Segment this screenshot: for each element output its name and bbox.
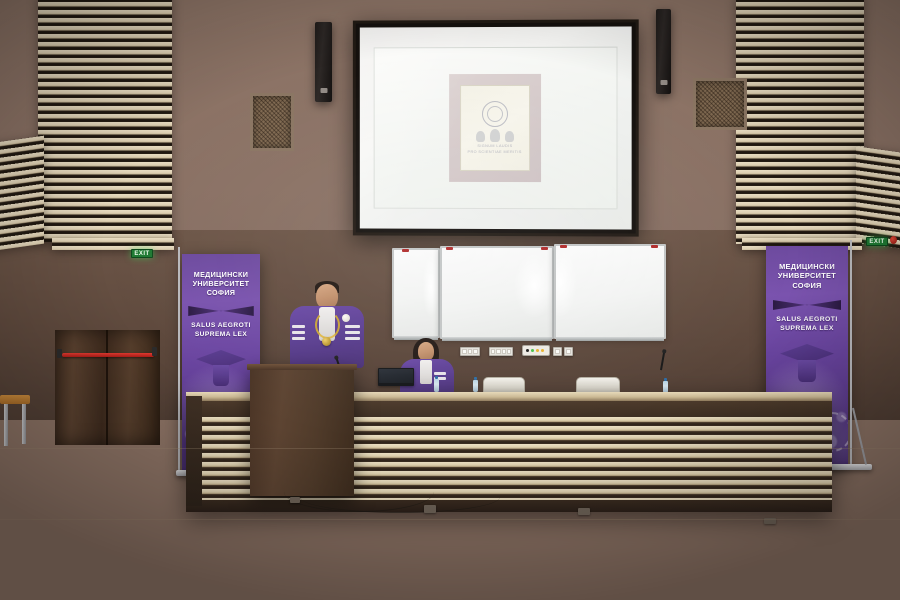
lectern-podium [250, 366, 354, 496]
whiteboard-tray [442, 337, 552, 341]
wall-slat-panel-left-main [38, 0, 172, 242]
desk-left-return [186, 396, 202, 506]
banner-left-divider [188, 306, 254, 316]
laptop-screen [379, 369, 413, 383]
banner-left-line3: СОФИЯ [182, 288, 260, 297]
whiteboard-shine [394, 250, 438, 336]
whiteboard-panel-right [554, 244, 666, 339]
graduation-cap-icon [196, 350, 246, 384]
certificate-seal-icon [482, 101, 508, 127]
banner-right-divider [773, 300, 842, 310]
switch-rocker[interactable] [496, 349, 500, 354]
graduation-cap-icon [780, 344, 834, 380]
power-outlet-plate-2[interactable] [564, 347, 573, 356]
banner-right-org-name: МЕДИЦИНСКИ УНИВЕРСИТЕТ СОФИЯ [766, 262, 848, 290]
gown-sleeve-stripe [345, 331, 360, 334]
light-switch-plate-2[interactable] [489, 347, 513, 356]
whiteboard-shine [556, 246, 664, 337]
certificate-figure-center [490, 129, 500, 142]
gown-sleeve-stripe [292, 337, 305, 340]
banner-left-line1: МЕДИЦИНСКИ [182, 270, 260, 279]
floor-seam [0, 448, 900, 449]
gown-sleeve-stripe [434, 372, 446, 375]
whiteboard-tray [556, 337, 664, 341]
push-bar-mount-left [57, 349, 62, 358]
switch-rocker[interactable] [462, 349, 467, 354]
seated-official-collar [420, 360, 432, 384]
exit-sign-left: EXIT [131, 249, 153, 258]
certificate-figures [476, 129, 514, 142]
side-table-top [0, 395, 30, 404]
water-bottle-2[interactable] [473, 380, 478, 392]
floor-junction-box-2 [424, 505, 436, 513]
ventilation-grille-left [250, 93, 294, 151]
emergency-light-right [890, 236, 897, 244]
slide-certificate-image: SIGNUM LAUDIS PRO SCIENTIAE MERITIS [449, 74, 541, 183]
wall-slat-panel-left-lower [52, 238, 174, 250]
projection-screen: SIGNUM LAUDIS PRO SCIENTIAE MERITIS [353, 19, 639, 236]
lectern-top-ledge [247, 364, 357, 370]
door-push-bar[interactable] [62, 353, 154, 357]
light-switch-plate-1[interactable] [460, 347, 480, 356]
banner-right-pole [850, 240, 852, 470]
side-table-leg [4, 404, 8, 446]
switch-rocker[interactable] [491, 349, 495, 354]
wall-slat-panel-right-angled [856, 146, 900, 250]
banner-right-line3: СОФИЯ [766, 281, 848, 290]
av-control-panel[interactable] [522, 345, 550, 356]
wall-slat-panel-left-angled [0, 136, 44, 253]
banner-left-pole [178, 247, 180, 475]
power-outlet-plate-1[interactable] [553, 347, 562, 356]
whiteboard-shine [442, 248, 552, 337]
switch-rocker[interactable] [473, 349, 478, 354]
banner-left-motto: SALUS AEGROTI SUPREMA LEX [182, 322, 260, 339]
banner-right-line1: МЕДИЦИНСКИ [766, 262, 848, 271]
whiteboard-panel-left [392, 248, 440, 338]
banner-left-motto-line1: SALUS AEGROTI [182, 322, 260, 331]
switch-rocker[interactable] [468, 349, 473, 354]
gown-shoulder-emblem [342, 314, 350, 322]
door-center-seam [106, 330, 108, 445]
switch-rocker[interactable] [507, 349, 511, 354]
gown-sleeve-stripe [292, 325, 305, 328]
certificate-inner: SIGNUM LAUDIS PRO SCIENTIAE MERITIS [460, 85, 530, 172]
auditorium-photo: SIGNUM LAUDIS PRO SCIENTIAE MERITIS [0, 0, 900, 600]
rector-medallion-icon [322, 337, 331, 346]
push-bar-mount-right [152, 347, 157, 356]
floor-junction-box-3 [578, 508, 590, 515]
exit-sign-right: EXIT [866, 237, 888, 246]
loudspeaker-right [656, 9, 671, 94]
wall-slat-panel-right-main [736, 0, 864, 244]
outlet-socket[interactable] [566, 349, 571, 354]
banner-right-line2: УНИВЕРСИТЕТ [766, 271, 848, 280]
led-indicator-dark [526, 349, 529, 352]
certificate-motto-line1: SIGNUM LAUDIS [477, 144, 512, 149]
led-indicator-amber [541, 349, 544, 352]
banner-right-motto-line2: SUPREMA LEX [766, 325, 848, 334]
desk-plinth [186, 500, 832, 512]
entrance-doors-left[interactable] [55, 330, 160, 445]
banner-right-motto: SALUS AEGROTI SUPREMA LEX [766, 316, 848, 334]
certificate-figure-right [505, 131, 514, 142]
certificate-figure-left [476, 131, 485, 142]
banner-right-base [828, 464, 872, 470]
banner-right-motto-line1: SALUS AEGROTI [766, 316, 848, 325]
switch-rocker[interactable] [502, 349, 506, 354]
slide-background: SIGNUM LAUDIS PRO SCIENTIAE MERITIS [373, 47, 618, 209]
gown-sleeve-stripe [345, 325, 360, 328]
gown-sleeve-stripe [292, 331, 305, 334]
led-indicator-amber [536, 349, 539, 352]
mortarboard-crown [213, 365, 229, 386]
loudspeaker-left [315, 22, 332, 102]
mortarboard-crown [798, 360, 815, 382]
side-table-leg [22, 404, 26, 444]
led-indicator-green [531, 349, 534, 352]
banner-left-motto-line2: SUPREMA LEX [182, 331, 260, 340]
floor-seam [0, 519, 900, 520]
banner-left-line2: УНИВЕРСИТЕТ [182, 279, 260, 288]
whiteboard-panel-center [440, 246, 554, 339]
certificate-motto-line2: PRO SCIENTIAE MERITIS [468, 150, 522, 155]
rector-chain-of-office [315, 311, 340, 339]
gown-sleeve-stripe [345, 337, 360, 340]
water-bottle-1[interactable] [434, 379, 439, 392]
laptop-on-desk[interactable] [378, 368, 414, 386]
floor-junction-box-1 [290, 497, 300, 503]
banner-left-org-name: МЕДИЦИНСКИ УНИВЕРСИТЕТ СОФИЯ [182, 270, 260, 298]
ventilation-grille-right [693, 78, 747, 130]
projection-screen-surface: SIGNUM LAUDIS PRO SCIENTIAE MERITIS [360, 26, 632, 229]
outlet-socket[interactable] [555, 349, 560, 354]
